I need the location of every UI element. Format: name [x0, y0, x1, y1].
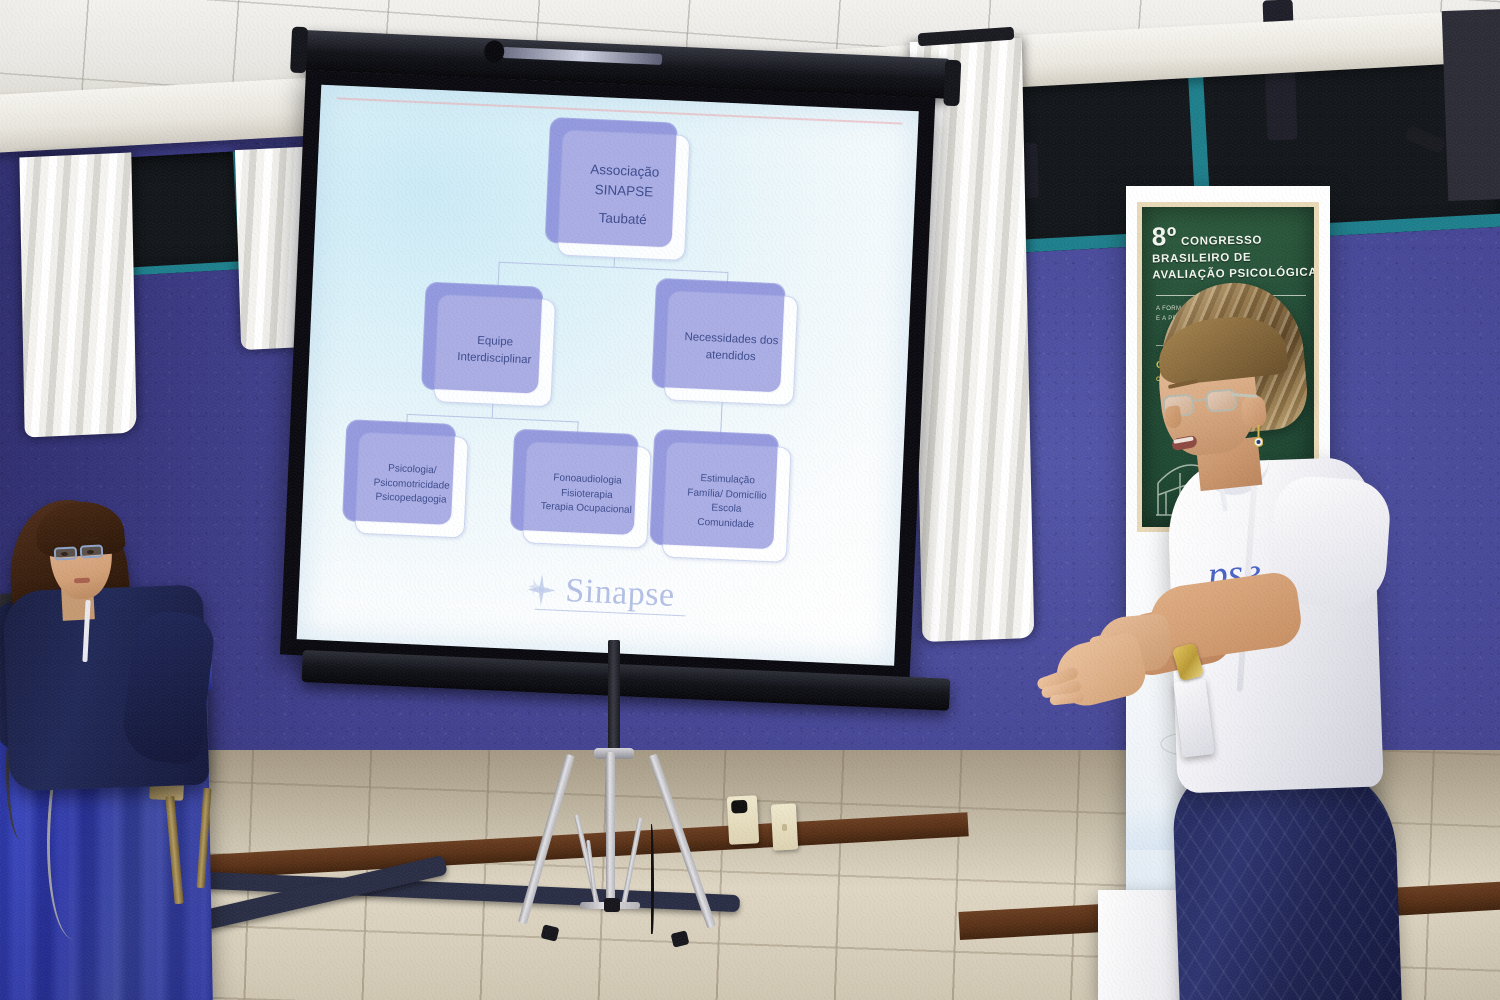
node-equipe-interdisciplinar: Equipe Interdisciplinar [433, 294, 556, 407]
curtain-panel-1 [19, 152, 136, 437]
node-line: Terapia Ocupacional [540, 500, 632, 519]
earring-icon [1254, 425, 1263, 450]
projection-screen: Associação SINAPSE Taubaté Equipe Interd… [300, 22, 960, 702]
trousers-texture [1172, 766, 1403, 1000]
node-associacao-sinapse: Associação SINAPSE Taubaté [557, 129, 690, 261]
node-psicologia: Psicologia/ Psicomotricidade Psicopedago… [354, 432, 468, 539]
slide-content: Associação SINAPSE Taubaté Equipe Interd… [297, 85, 919, 666]
node-line: SINAPSE [594, 180, 653, 202]
poster-edition-number: 8º [1151, 221, 1177, 251]
screen-surface: Associação SINAPSE Taubaté Equipe Interd… [297, 85, 919, 666]
screen-border-frame: Associação SINAPSE Taubaté Equipe Interd… [280, 70, 935, 682]
node-line: Escola [711, 501, 742, 517]
tripod-brace-right [621, 818, 643, 907]
tripod-leg-right [648, 754, 716, 929]
tripod-center-pole [608, 640, 620, 758]
glasses-bridge [1194, 399, 1206, 402]
seated-eye-left [61, 552, 68, 556]
screen-case-cap-right [943, 60, 961, 107]
poster-title: 8º CONGRESSO BRASILEIRO DE AVALIAÇÃO PSI… [1152, 224, 1319, 285]
tripod-foot-center [604, 898, 620, 912]
presenter-trousers [1172, 766, 1403, 1000]
node-fonoaudiologia: Fonoaudiologia Fisioterapia Terapia Ocup… [522, 441, 651, 548]
node-line: Comunidade [697, 515, 754, 532]
conference-room-scene: Associação SINAPSE Taubaté Equipe Interd… [0, 0, 1500, 1000]
screen-case-cap-left [290, 27, 308, 74]
node-estimulacao: Estimulação Família/ Domicílio Escola Co… [662, 441, 792, 562]
projector-mount-bar [502, 47, 662, 65]
slide-footer-logo: Sinapse [521, 569, 676, 616]
node-line: atendidos [705, 347, 756, 366]
node-line: Psicopedagogia [375, 491, 447, 509]
projector-lens-icon [484, 40, 505, 63]
node-line: Equipe [477, 333, 514, 351]
seated-mouth [74, 578, 90, 584]
node-necessidades-atendidos: Necessidades dos atendidos [664, 290, 799, 406]
screen-tripod-stand [560, 640, 800, 940]
node-line: Necessidades dos [684, 329, 779, 350]
sinapse-wordmark: Sinapse [565, 572, 676, 615]
curtain-panel-dark [1442, 9, 1500, 201]
node-line: Taubaté [598, 208, 647, 230]
tripod-leg-center [606, 752, 615, 900]
node-line: Interdisciplinar [457, 349, 532, 369]
seated-eyebrow-right [82, 537, 99, 541]
poster-line-2: BRASILEIRO DE [1152, 251, 1251, 265]
poster-line-3: AVALIAÇÃO PSICOLÓGICA [1152, 267, 1317, 282]
power-cable [650, 824, 654, 934]
seated-eye-right [87, 550, 94, 554]
poster-line-1: CONGRESSO [1181, 235, 1262, 248]
sparkle-icon [521, 569, 563, 611]
finger [1049, 692, 1084, 705]
